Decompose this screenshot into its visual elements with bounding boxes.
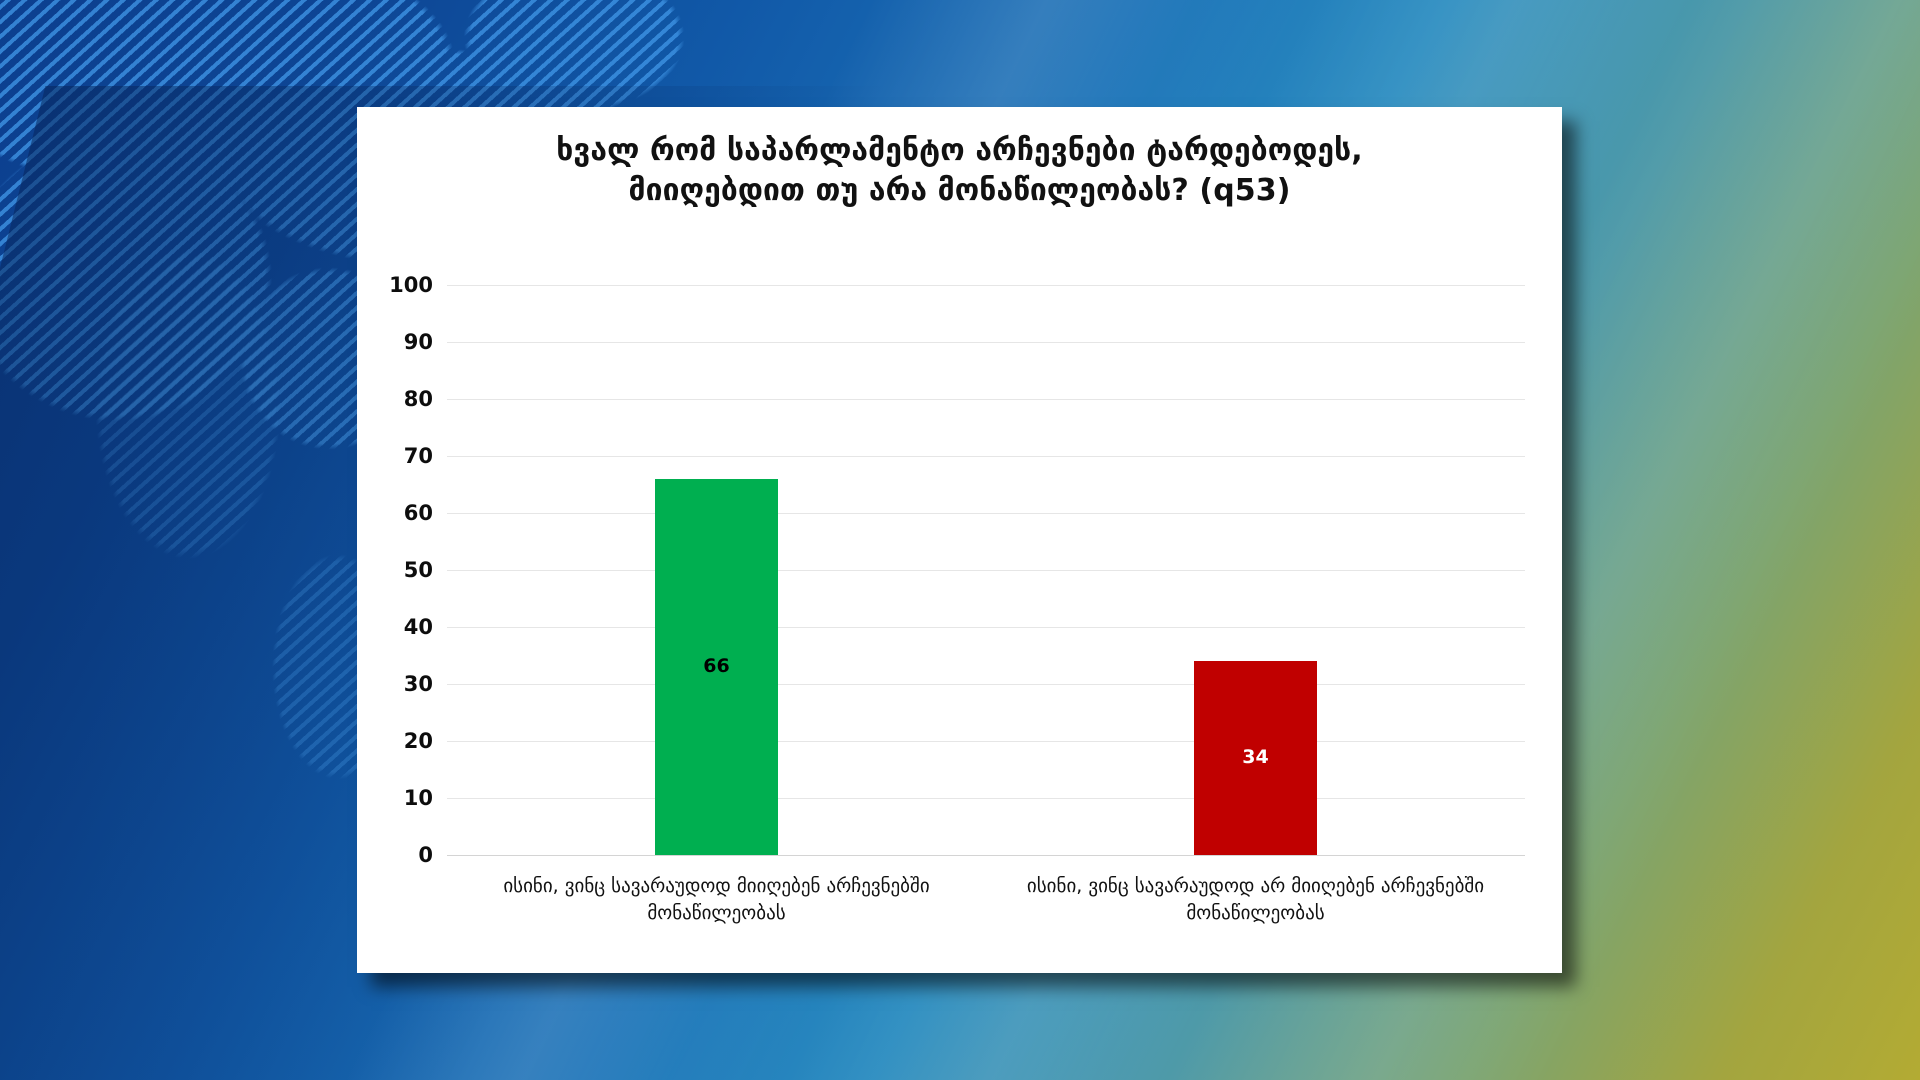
gridline-40 [447, 627, 1525, 628]
presentation-slide: ხვალ რომ საპარლამენტო არჩევნები ტარდებოდ… [0, 0, 1920, 1080]
chart-card: ხვალ რომ საპარლამენტო არჩევნები ტარდებოდ… [357, 107, 1562, 973]
gridline-20 [447, 741, 1525, 742]
y-axis-tick-label: 90 [404, 330, 433, 354]
y-axis-tick-label: 60 [404, 501, 433, 525]
gridline-50 [447, 570, 1525, 571]
y-axis-tick-label: 80 [404, 387, 433, 411]
chart-title: ხვალ რომ საპარლამენტო არჩევნები ტარდებოდ… [357, 131, 1562, 210]
gridline-0 [447, 855, 1525, 856]
gridline-90 [447, 342, 1525, 343]
y-axis-tick-label: 70 [404, 444, 433, 468]
y-axis-tick-label: 50 [404, 558, 433, 582]
y-axis-tick-label: 0 [418, 843, 433, 867]
y-axis-tick-label: 20 [404, 729, 433, 753]
gridline-60 [447, 513, 1525, 514]
chart-title-line-1: ხვალ რომ საპარლამენტო არჩევნები ტარდებოდ… [397, 131, 1522, 171]
y-axis-tick-label: 30 [404, 672, 433, 696]
bar-value-label-1: 66 [655, 655, 778, 677]
y-axis-tick-label: 10 [404, 786, 433, 810]
gridline-100 [447, 285, 1525, 286]
bar-2[interactable]: 34 [1194, 661, 1317, 855]
bar-1[interactable]: 66 [655, 479, 778, 855]
chart-title-line-2: მიიღებდით თუ არა მონაწილეობას? (q53) [397, 171, 1522, 211]
plot-area: 1009080706050403020100 66ისინი, ვინც სავ… [447, 285, 1525, 855]
gridline-30 [447, 684, 1525, 685]
gridline-80 [447, 399, 1525, 400]
bar-value-label-2: 34 [1194, 746, 1317, 768]
gridline-10 [447, 798, 1525, 799]
x-axis-category-label-2: ისინი, ვინც სავარაუდოდ არ მიიღებენ არჩევ… [1004, 873, 1507, 927]
gridline-70 [447, 456, 1525, 457]
y-axis-tick-label: 40 [404, 615, 433, 639]
y-axis-tick-label: 100 [389, 273, 433, 297]
x-axis-category-label-1: ისინი, ვინც სავარაუდოდ მიიღებენ არჩევნებ… [465, 873, 968, 927]
